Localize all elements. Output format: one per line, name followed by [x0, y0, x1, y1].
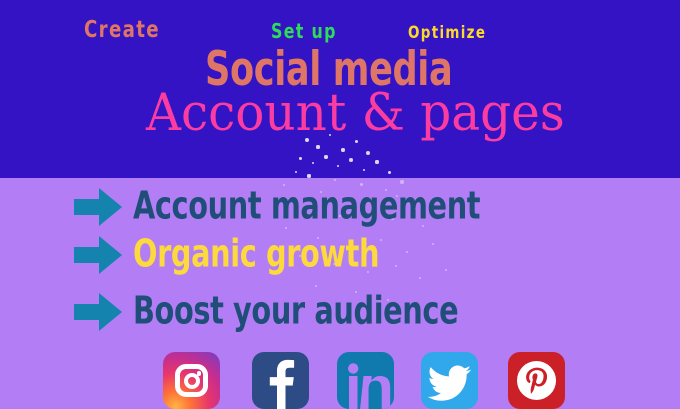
kicker-create: Create — [84, 17, 160, 43]
linkedin-icon[interactable] — [337, 352, 394, 409]
headline-account-and-pages: Account & pages — [146, 86, 565, 142]
instagram-camera-outline — [175, 364, 208, 397]
banner-top-band: Create Set up Optimize Social media Acco… — [0, 0, 680, 178]
instagram-icon[interactable] — [163, 352, 220, 409]
service-label-organic-growth: Organic growth — [133, 232, 379, 279]
social-icon-strip — [0, 352, 680, 409]
kicker-set-up: Set up — [271, 19, 337, 43]
service-label-account-management: Account management — [133, 184, 480, 231]
instagram-flash-dot — [197, 371, 202, 376]
arrow-right-icon — [74, 188, 122, 226]
arrow-right-icon — [74, 293, 122, 331]
facebook-icon[interactable] — [252, 352, 309, 409]
service-label-boost-your-audience: Boost your audience — [133, 289, 458, 336]
promo-banner: Create Set up Optimize Social media Acco… — [0, 0, 680, 409]
pinterest-icon[interactable] — [508, 352, 565, 409]
kicker-optimize: Optimize — [408, 23, 486, 43]
arrow-right-icon — [74, 236, 122, 274]
twitter-icon[interactable] — [421, 352, 478, 409]
